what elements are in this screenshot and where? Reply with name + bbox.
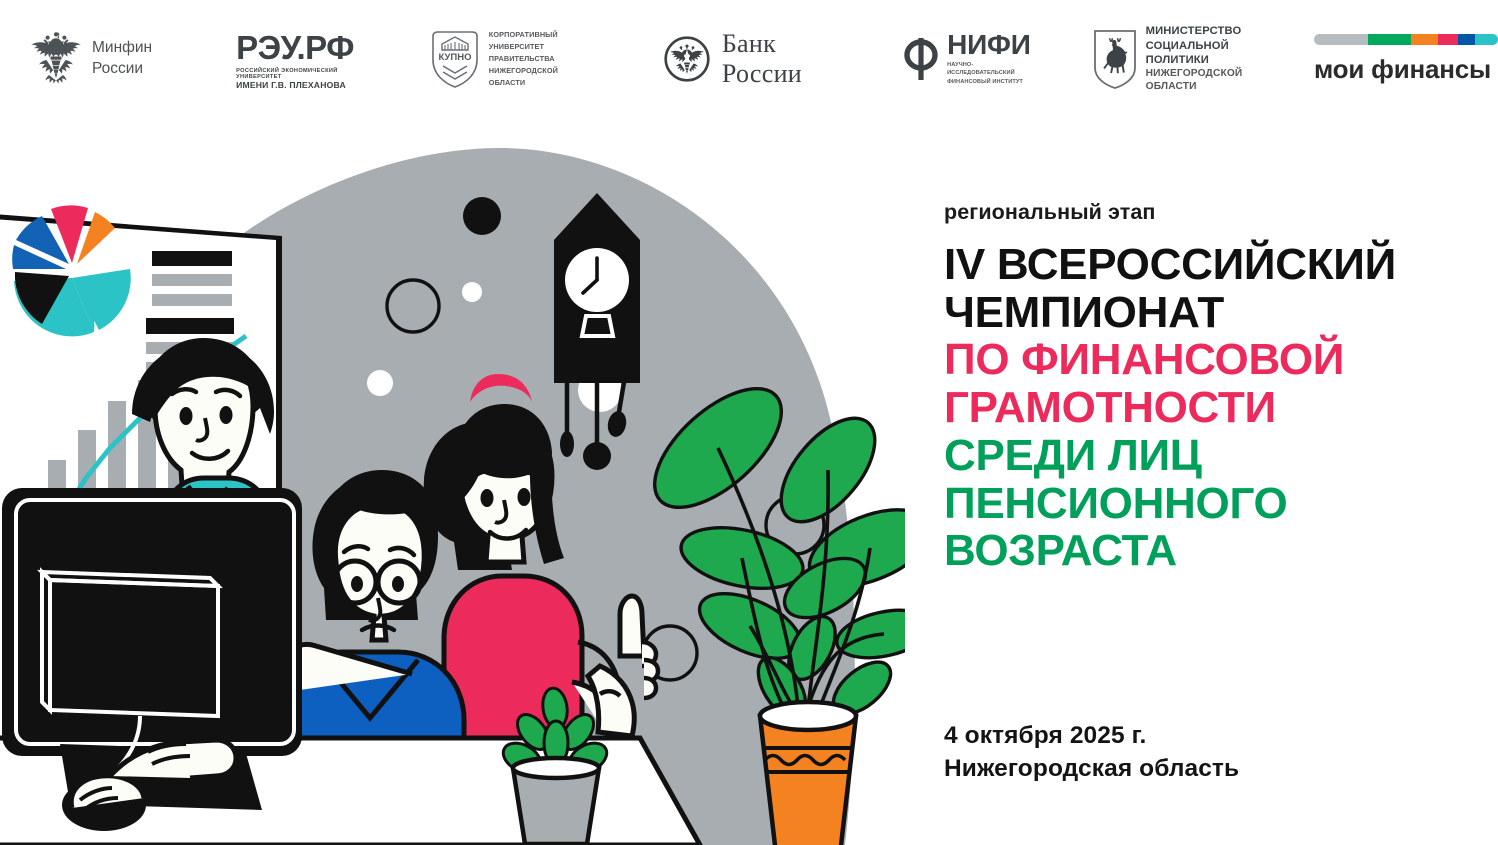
event-location: Нижегородская область [944,753,1424,786]
headline-block: региональный этап IV ВСЕРОССИЙСКИЙ ЧЕМПИ… [944,200,1474,575]
headline-line-5: СРЕДИ ЛИЦ [944,432,1474,480]
moi-finansy-bar-segment [1475,34,1498,45]
poster-root: Минфин России РЭУ.РФ РОССИЙСКИЙ ЭКОНОМИЧ… [0,0,1498,845]
moi-finansy-bar-segment [1411,34,1438,45]
headline-line-2: ЧЕМПИОНАТ [944,289,1474,337]
phi-mark-icon [900,36,942,82]
headline-line-4: ГРАМОТНОСТИ [944,384,1474,432]
logo-ministerstvo-socialnoy-politiki: МИНИСТЕРСТВО СОЦИАЛЬНОЙ ПОЛИТИКИ НИЖЕГОР… [1093,24,1272,93]
logo-minfin-rossii: Минфин России [30,30,152,88]
headline-line-1: IV ВСЕРОССИЙСКИЙ [944,241,1474,289]
moi-finansy-bar-segment [1368,34,1411,45]
logo-kupno-label: КОРПОРАТИВНЫЙ УНИВЕРСИТЕТ ПРАВИТЕЛЬСТВА … [489,29,594,88]
headline-line-7: ВОЗРАСТА [944,527,1474,575]
event-date: 4 октября 2025 г. [944,720,1424,753]
russian-coat-of-arms-icon [30,30,82,88]
logo-moi-finansy-label: мои финансы [1314,54,1491,85]
svg-text:КУПНО: КУПНО [438,52,471,63]
double-headed-eagle-icon [664,36,710,82]
hero-illustration [0,118,905,845]
logo-kupno: КУПНО КОРПОРАТИВНЫЙ УНИВЕРСИТЕТ ПРАВИТЕЛ… [430,28,594,90]
logo-minfin-label: Минфин России [92,38,152,80]
logo-reu-plekhanov: РЭУ.РФ РОССИЙСКИЙ ЭКОНОМИЧЕСКИЙ УНИВЕРСИ… [236,29,368,90]
logo-minsoc-label: МИНИСТЕРСТВО СОЦИАЛЬНОЙ ПОЛИТИКИ НИЖЕГОР… [1146,24,1272,93]
moi-finansy-bar-segment [1438,34,1458,45]
headline-line-3: ПО ФИНАНСОВОЙ [944,336,1474,384]
event-details-block: 4 октября 2025 г. Нижегородская область [944,720,1424,785]
logo-bank-rossii: Банк России [664,29,840,89]
logo-moi-finansy: мои финансы [1314,34,1498,85]
moi-finansy-color-bar-icon [1314,34,1498,45]
logo-nifi-label: НИФИ [947,29,1031,60]
headline-line-6: ПЕНСИОННОГО [944,480,1474,528]
logo-nifi: НИФИ НАУЧНО-ИССЛЕДОВАТЕЛЬСКИЙ ФИНАНСОВЫЙ… [900,32,1031,87]
logo-bank-rossii-label: Банк России [722,29,840,89]
logo-reu-sub1: РОССИЙСКИЙ ЭКОНОМИЧЕСКИЙ УНИВЕРСИТЕТ [236,68,368,80]
shield-kupno-icon: КУПНО [430,28,480,90]
moi-finansy-bar-segment [1314,34,1368,45]
kicker-text: региональный этап [944,200,1474,225]
logo-reu-wordmark: РЭУ.РФ [236,29,368,67]
nizhny-novgorod-deer-coat-icon [1093,28,1137,90]
moi-finansy-bar-segment [1458,34,1475,45]
logo-reu-sub2: ИМЕНИ Г.В. ПЛЕХАНОВА [236,80,368,90]
partner-logo-bar: Минфин России РЭУ.РФ РОССИЙСКИЙ ЭКОНОМИЧ… [0,0,1498,118]
logo-nifi-sub: НАУЧНО-ИССЛЕДОВАТЕЛЬСКИЙ ФИНАНСОВЫЙ ИНСТ… [947,61,1031,87]
plant-pot [760,702,856,845]
